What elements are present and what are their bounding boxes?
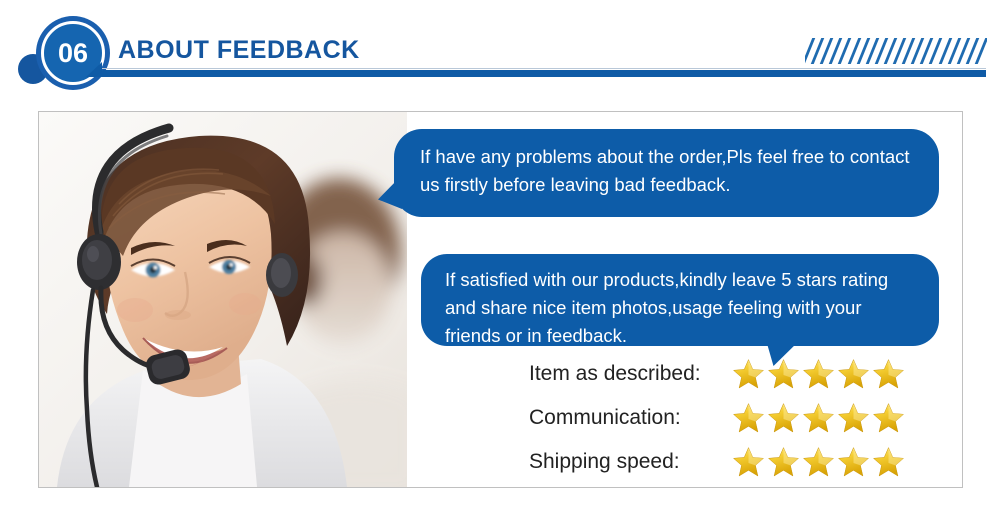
rating-row: Shipping speed:: [529, 440, 959, 484]
bubble-text: If have any problems about the order,Pls…: [420, 143, 917, 199]
section-number-badge: 06: [18, 14, 108, 90]
section-header: 06 ABOUT FEEDBACK: [0, 0, 1000, 100]
agent-photo: [39, 112, 407, 487]
star-icon: [872, 358, 905, 390]
star-icon: [872, 446, 905, 478]
star-rating: [732, 358, 905, 390]
star-rating: [732, 402, 905, 434]
star-icon: [837, 446, 870, 478]
star-icon: [732, 358, 765, 390]
star-icon: [767, 358, 800, 390]
header-bar-rule: [95, 70, 986, 77]
star-icon: [802, 402, 835, 434]
bubble-text: If satisfied with our products,kindly le…: [445, 266, 919, 350]
star-icon: [802, 446, 835, 478]
section-title: ABOUT FEEDBACK: [118, 36, 360, 65]
diagonal-stripes-decoration: [805, 38, 987, 64]
badge-number-label: 06: [58, 40, 88, 67]
rating-label: Item as described:: [529, 362, 724, 386]
star-icon: [767, 446, 800, 478]
star-icon: [802, 358, 835, 390]
speech-bubble-problems: If have any problems about the order,Pls…: [394, 129, 939, 217]
star-icon: [872, 402, 905, 434]
rating-row: Item as described:: [529, 352, 959, 396]
header-thin-rule: [100, 68, 986, 69]
star-icon: [837, 402, 870, 434]
star-rating: [732, 446, 905, 478]
star-icon: [732, 446, 765, 478]
ratings-list: Item as described:Communication:Shipping…: [529, 352, 959, 484]
rating-label: Communication:: [529, 406, 724, 430]
rating-row: Communication:: [529, 396, 959, 440]
star-icon: [767, 402, 800, 434]
speech-bubble-satisfied: If satisfied with our products,kindly le…: [421, 254, 939, 346]
rating-label: Shipping speed:: [529, 450, 724, 474]
star-icon: [837, 358, 870, 390]
feedback-panel: If have any problems about the order,Pls…: [38, 111, 963, 488]
star-icon: [732, 402, 765, 434]
